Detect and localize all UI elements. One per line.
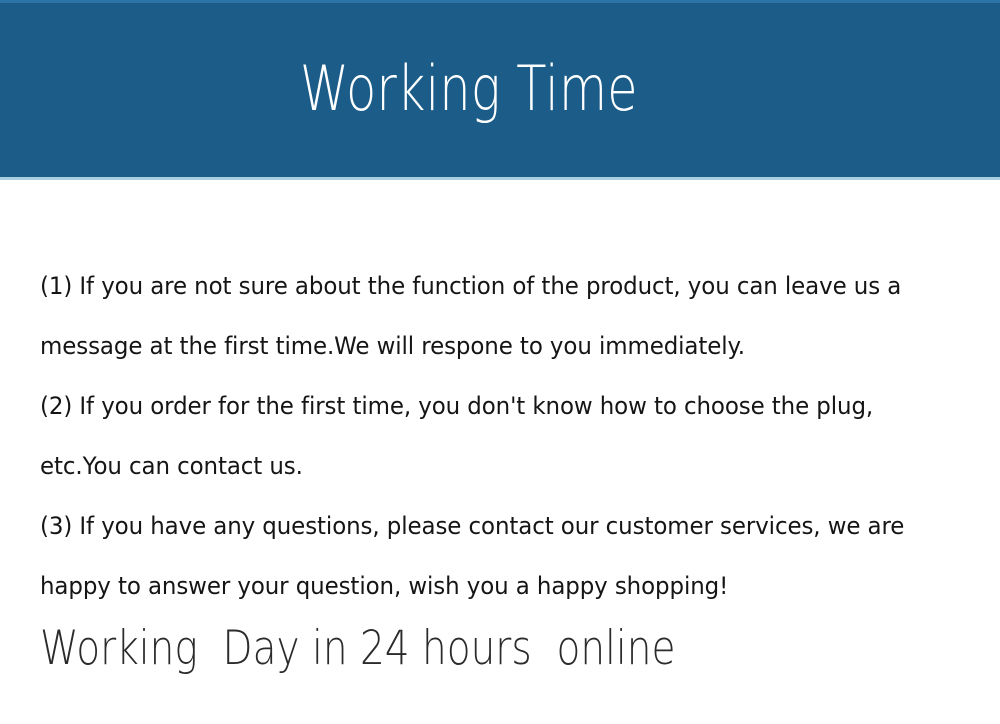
policy-line-5: (3) If you have any questions, please co… — [40, 496, 928, 556]
working-time-banner-page: Working Time (1) If you are not sure abo… — [0, 0, 1000, 724]
page-title: Working Time — [100, 0, 900, 177]
policy-line-4: etc.You can contact us. — [40, 436, 928, 496]
header-banner: Working Time — [0, 0, 1000, 180]
banner-bottom-accent-line — [0, 177, 1000, 180]
policy-line-3: (2) If you order for the first time, you… — [40, 376, 928, 436]
policy-line-2: message at the first time.We will respon… — [40, 316, 928, 376]
policy-line-1: (1) If you are not sure about the functi… — [40, 256, 928, 316]
availability-headline: Working Day in 24 hours online — [40, 618, 820, 680]
policy-text-block: (1) If you are not sure about the functi… — [40, 256, 970, 616]
policy-line-6: happy to answer your question, wish you … — [40, 556, 928, 616]
